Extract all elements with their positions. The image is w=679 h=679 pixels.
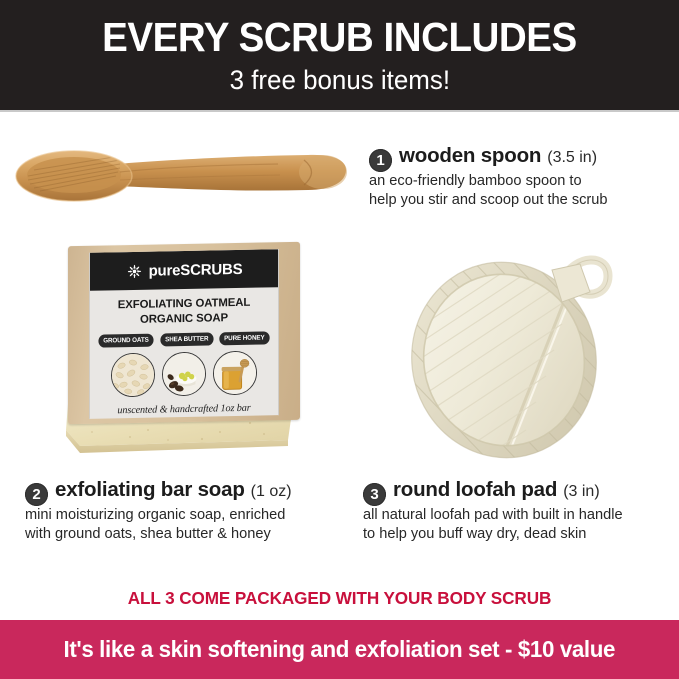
header-subtitle: 3 free bonus items! (229, 67, 449, 94)
soap-ingredient-photos (90, 350, 278, 398)
item-2-text-block: 2 exfoliating bar soap (1 oz) mini moist… (25, 478, 345, 545)
bar-soap-photo: pureSCRUBS EXFOLIATING OATMEAL ORGANIC S… (52, 244, 316, 460)
badge-pure-honey: PURE HONEY (220, 332, 270, 346)
item-3-text-block: 3 round loofah pad (3 in) all natural lo… (363, 478, 668, 545)
item-3-number-badge: 3 (363, 483, 386, 506)
packaging-tagline: ALL 3 COME PACKAGED WITH YOUR BODY SCRUB (7, 588, 672, 609)
pure-honey-photo (213, 351, 257, 396)
item-2-number-badge: 2 (25, 483, 48, 506)
loofah-pad-photo (404, 240, 654, 470)
item-1-title: wooden spoon (399, 144, 541, 168)
item-2-size: (1 oz) (251, 483, 292, 501)
item-3-title: round loofah pad (393, 478, 557, 502)
badge-ground-oats: GROUND OATS (98, 334, 153, 348)
item-1-description: an eco-friendly bamboo spoon to help you… (369, 172, 669, 211)
item-2-heading: 2 exfoliating bar soap (1 oz) (25, 478, 345, 503)
item-3-description: all natural loofah pad with built in han… (363, 506, 668, 545)
header-divider (0, 110, 679, 112)
soap-product-name: EXFOLIATING OATMEAL ORGANIC SOAP (90, 295, 278, 328)
purescrubs-logo-icon (126, 262, 143, 279)
item-1-text-block: 1 wooden spoon (3.5 in) an eco-friendly … (369, 144, 669, 211)
wooden-spoon-photo (8, 142, 356, 210)
item-3-heading: 3 round loofah pad (3 in) (363, 478, 668, 503)
item-1-heading: 1 wooden spoon (3.5 in) (369, 144, 669, 169)
item-2-description: mini moisturizing organic soap, enriched… (25, 506, 345, 545)
header-banner: EVERY SCRUB INCLUDES 3 free bonus items! (0, 0, 679, 110)
item-1-size: (3.5 in) (547, 149, 597, 167)
header-title: EVERY SCRUB INCLUDES (102, 17, 577, 58)
soap-package-box: pureSCRUBS EXFOLIATING OATMEAL ORGANIC S… (68, 242, 300, 424)
soap-brand-name: pureSCRUBS (149, 260, 243, 279)
value-banner: It's like a skin softening and exfoliati… (0, 620, 679, 679)
badge-shea-butter: SHEA BUTTER (160, 333, 213, 347)
item-2-title: exfoliating bar soap (55, 478, 245, 502)
ground-oats-photo (111, 353, 155, 398)
item-3-size: (3 in) (563, 483, 599, 501)
shea-butter-photo (162, 352, 206, 397)
soap-ingredient-badges: GROUND OATS SHEA BUTTER PURE HONEY (90, 331, 278, 348)
soap-label-panel: pureSCRUBS EXFOLIATING OATMEAL ORGANIC S… (89, 249, 279, 419)
soap-footer-text: unscented & handcrafted 1oz bar (90, 402, 278, 417)
item-1-number-badge: 1 (369, 149, 392, 172)
soap-brand-band: pureSCRUBS (90, 249, 278, 291)
value-banner-text: It's like a skin softening and exfoliati… (64, 636, 615, 663)
